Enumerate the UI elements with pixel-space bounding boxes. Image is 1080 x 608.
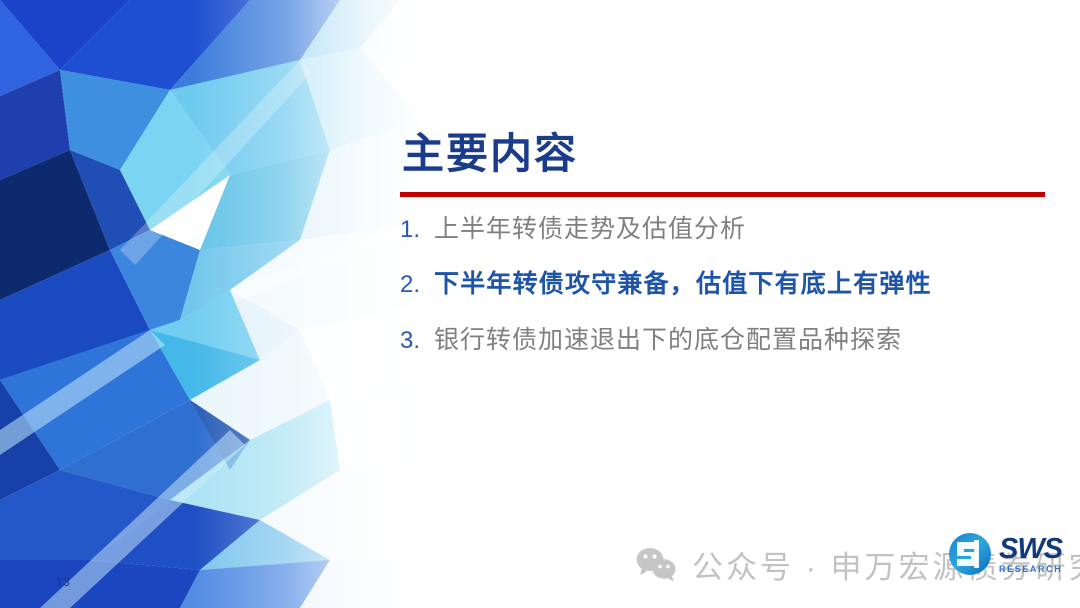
agenda-item-1-number: 1.: [400, 215, 434, 245]
agenda-item-3-number: 3.: [400, 326, 434, 356]
agenda-item-2-number: 2.: [400, 270, 434, 300]
decorative-polygon-background: [0, 0, 440, 608]
agenda-item-2[interactable]: 2. 下半年转债攻守兼备，估值下有底上有弹性: [400, 269, 1040, 300]
agenda-item-1-label: 上半年转债走势及估值分析: [434, 214, 746, 245]
slide-canvas: 13 主要内容 1. 上半年转债走势及估值分析 2. 下半年转债攻守兼备，估值下…: [0, 0, 1080, 608]
title-block: 主要内容: [400, 132, 1050, 197]
sws-name: SWS: [999, 535, 1062, 564]
agenda-item-2-label: 下半年转债攻守兼备，估值下有底上有弹性: [434, 269, 932, 300]
sws-wordmark: SWS RESEARCH: [999, 535, 1062, 574]
background-fade-mask: [0, 0, 460, 608]
agenda-list: 1. 上半年转债走势及估值分析 2. 下半年转债攻守兼备，估值下有底上有弹性 3…: [400, 214, 1040, 356]
agenda-item-3-label: 银行转债加速退出下的底仓配置品种探索: [434, 325, 902, 356]
agenda-item-1[interactable]: 1. 上半年转债走势及估值分析: [400, 214, 1040, 245]
title-underline-rule: [400, 192, 1045, 197]
agenda-item-3[interactable]: 3. 银行转债加速退出下的底仓配置品种探索: [400, 325, 1040, 356]
sws-circle-mark-icon: [944, 528, 996, 580]
page-title: 主要内容: [400, 132, 1050, 178]
wechat-icon: [634, 546, 678, 582]
page-number: 13: [56, 575, 70, 589]
sws-research-logo: SWS RESEARCH: [944, 528, 1062, 580]
sws-subtitle: RESEARCH: [999, 565, 1062, 574]
